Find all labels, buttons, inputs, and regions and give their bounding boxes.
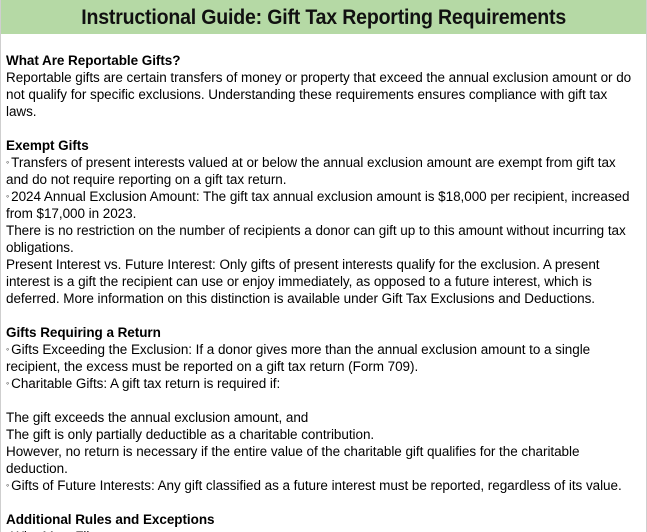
section-heading: Exempt Gifts xyxy=(6,137,640,154)
bullet-icon: ◦ xyxy=(6,378,9,388)
bullet-paragraph: ◦Charitable Gifts: A gift tax return is … xyxy=(6,375,640,392)
body-paragraph: However, no return is necessary if the e… xyxy=(6,443,640,477)
body-paragraph: The gift exceeds the annual exclusion am… xyxy=(6,409,640,426)
bullet-paragraph: ◦Who Must File: xyxy=(6,528,640,532)
paragraph-text: Gifts Exceeding the Exclusion: If a dono… xyxy=(6,342,590,374)
body-paragraph: Present Interest vs. Future Interest: On… xyxy=(6,256,640,307)
paragraph-text: However, no return is necessary if the e… xyxy=(6,444,579,476)
bullet-paragraph: ◦Gifts Exceeding the Exclusion: If a don… xyxy=(6,341,640,375)
paragraph-text: Reportable gifts are certain transfers o… xyxy=(6,70,631,119)
body-paragraph: Reportable gifts are certain transfers o… xyxy=(6,69,640,120)
section-heading: What Are Reportable Gifts? xyxy=(6,52,640,69)
page-title: Instructional Guide: Gift Tax Reporting … xyxy=(81,7,566,28)
bullet-icon: ◦ xyxy=(6,480,9,490)
document-body: What Are Reportable Gifts?Reportable gif… xyxy=(1,34,646,532)
bullet-icon: ◦ xyxy=(6,157,9,167)
blank-line xyxy=(6,392,640,409)
section-heading: Gifts Requiring a Return xyxy=(6,324,640,341)
paragraph-text: Present Interest vs. Future Interest: On… xyxy=(6,257,600,306)
bullet-icon: ◦ xyxy=(6,344,9,354)
document-section: What Are Reportable Gifts?Reportable gif… xyxy=(6,52,640,120)
bullet-paragraph: ◦Transfers of present interests valued a… xyxy=(6,154,640,188)
paragraph-text: Charitable Gifts: A gift tax return is r… xyxy=(11,376,280,391)
document-section: Exempt Gifts◦Transfers of present intere… xyxy=(6,137,640,307)
paragraph-text: The gift exceeds the annual exclusion am… xyxy=(6,410,308,425)
bullet-paragraph: ◦Gifts of Future Interests: Any gift cla… xyxy=(6,477,640,494)
paragraph-text: Transfers of present interests valued at… xyxy=(6,155,616,187)
paragraph-text: 2024 Annual Exclusion Amount: The gift t… xyxy=(6,189,629,221)
paragraph-text: Gifts of Future Interests: Any gift clas… xyxy=(11,478,622,493)
document-section: Gifts Requiring a Return◦Gifts Exceeding… xyxy=(6,324,640,494)
document-header-banner: Instructional Guide: Gift Tax Reporting … xyxy=(1,0,646,34)
paragraph-text: There is no restriction on the number of… xyxy=(6,223,626,255)
paragraph-text: The gift is only partially deductible as… xyxy=(6,427,374,442)
body-paragraph: The gift is only partially deductible as… xyxy=(6,426,640,443)
body-paragraph: There is no restriction on the number of… xyxy=(6,222,640,256)
document-section: Additional Rules and Exceptions◦Who Must… xyxy=(6,511,640,532)
bullet-paragraph: ◦2024 Annual Exclusion Amount: The gift … xyxy=(6,188,640,222)
document-page: Instructional Guide: Gift Tax Reporting … xyxy=(0,0,647,532)
section-heading: Additional Rules and Exceptions xyxy=(6,511,640,528)
bullet-icon: ◦ xyxy=(6,191,9,201)
